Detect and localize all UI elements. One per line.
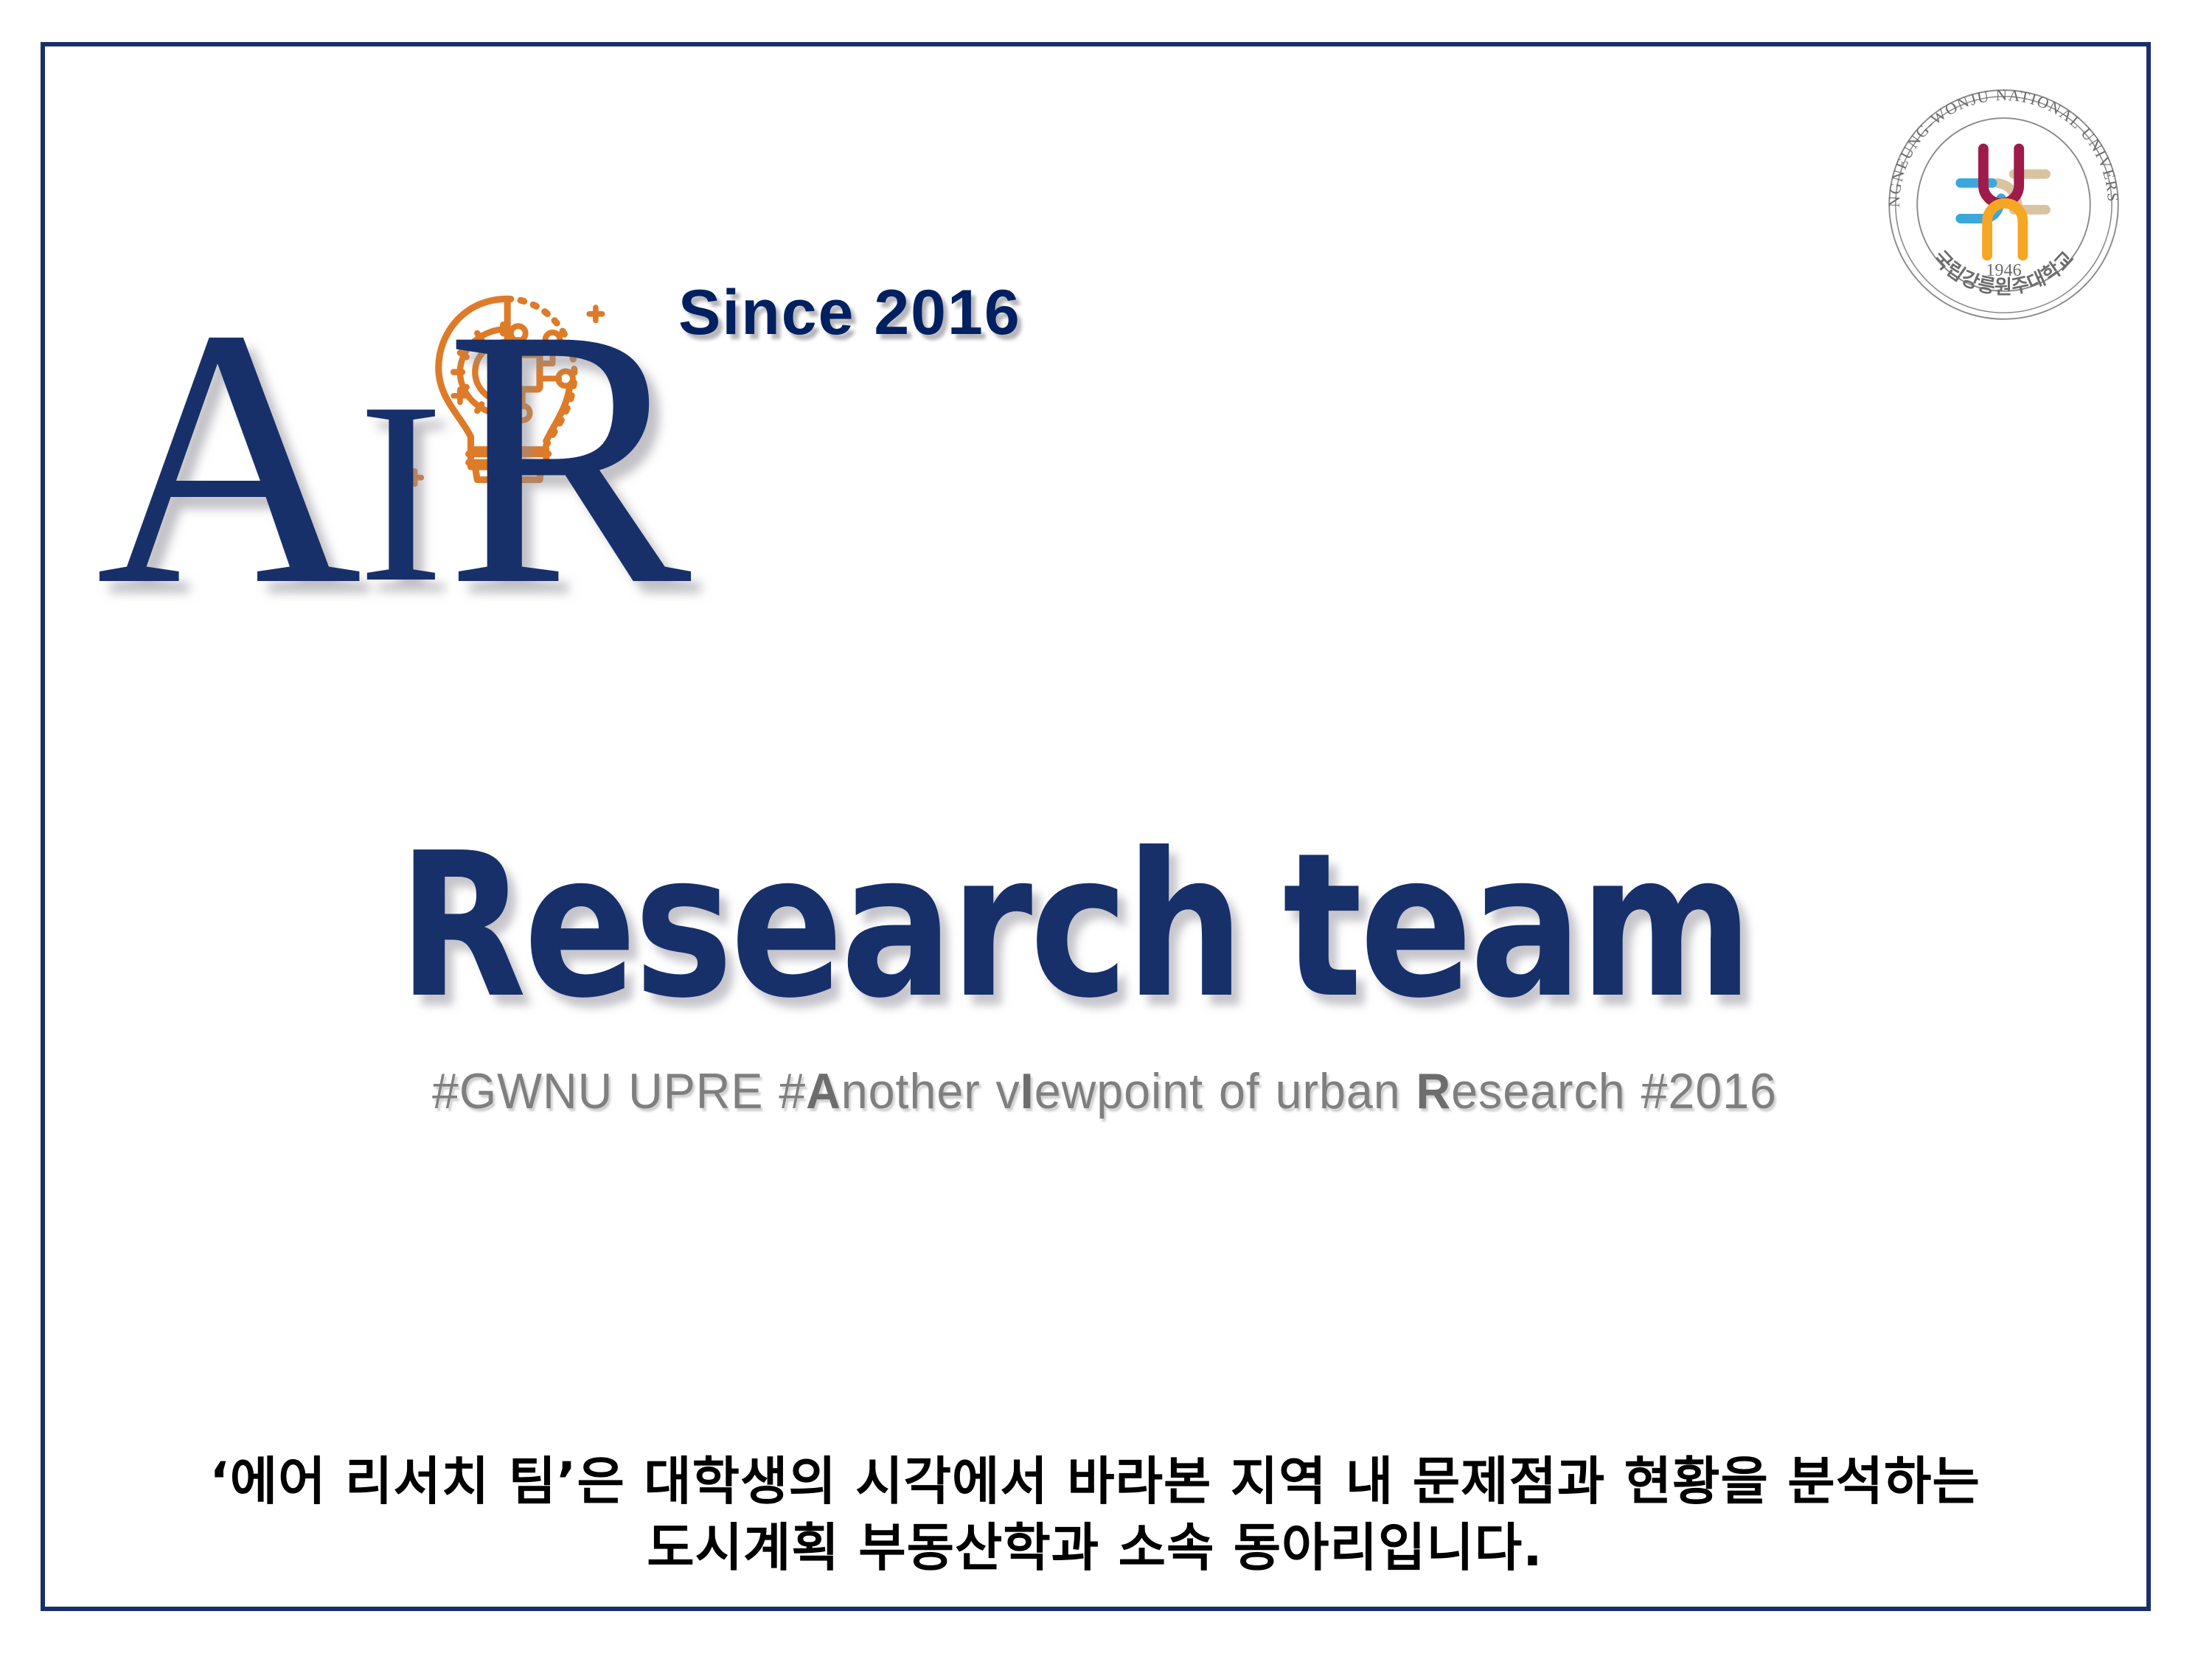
- tagline-nother: nother: [841, 1063, 981, 1119]
- description-line-1: ‘에어 리서치 팀’은 대학생의 시각에서 바라본 지역 내 문제점과 현황을 …: [66, 1449, 2124, 1515]
- wordmark-letter-a: A: [96, 253, 358, 661]
- description-block: ‘에어 리서치 팀’은 대학생의 시각에서 바라본 지역 내 문제점과 현황을 …: [66, 1449, 2124, 1581]
- wordmark-letter-i: I: [358, 349, 445, 636]
- tagline-esearch: esearch: [1451, 1063, 1625, 1119]
- tagline-urban: urban: [1276, 1063, 1401, 1119]
- air-wordmark: AIR: [96, 273, 687, 641]
- seal-year: 1946: [1986, 260, 2021, 280]
- tagline-of: of: [1219, 1063, 1260, 1119]
- title-word-research: Research: [398, 810, 1242, 1042]
- tagline-i-bold: I: [1020, 1063, 1034, 1119]
- tagline-gwnu: #GWNU: [432, 1063, 613, 1119]
- university-seal-logo: GANGNEUNG-WONJU NATIONAL UNIVERSITY 국립강릉…: [1877, 77, 2131, 332]
- tagline-a-bold: A: [806, 1063, 841, 1119]
- tagline-r-bold: R: [1416, 1063, 1451, 1119]
- slide-canvas: GANGNEUNG-WONJU NATIONAL UNIVERSITY 국립강릉…: [0, 0, 2212, 1659]
- description-line-2: 도시계획 부동산학과 소속 동아리입니다.: [66, 1515, 2124, 1582]
- tagline-upre: UPRE: [628, 1063, 763, 1119]
- tagline-hash: #: [779, 1063, 806, 1119]
- tagline-year: #2016: [1641, 1063, 1776, 1119]
- tagline-v: v: [996, 1063, 1020, 1119]
- since-label: Since 2016: [678, 276, 1021, 349]
- tagline: #GWNUUPRE#AnothervIewpointofurbanResearc…: [432, 1062, 1777, 1120]
- page-title: Researchteam: [398, 810, 1750, 1042]
- title-word-team: team: [1283, 810, 1750, 1042]
- tagline-ewpoint: ewpoint: [1034, 1063, 1203, 1119]
- wordmark-letter-r: R: [445, 253, 687, 661]
